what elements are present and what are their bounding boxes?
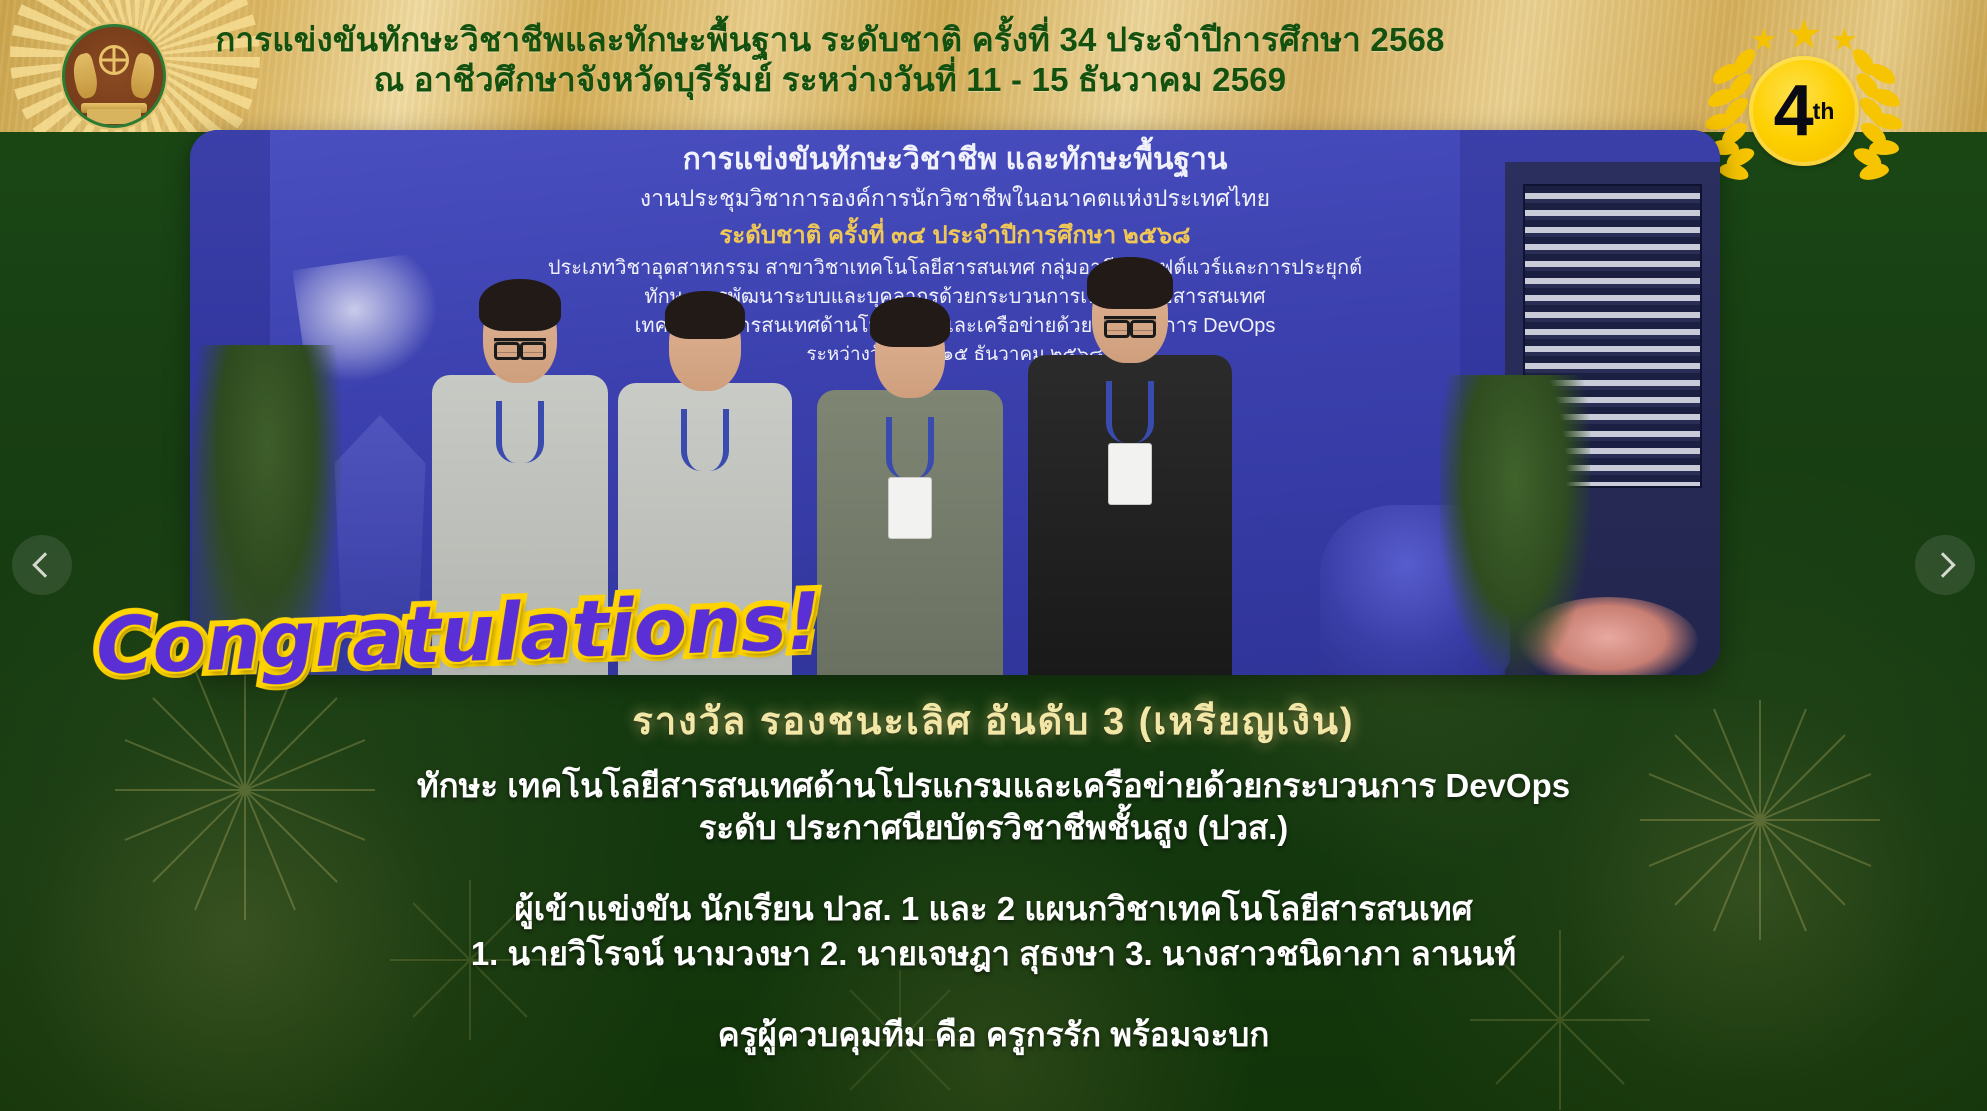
spacer — [0, 977, 1987, 1013]
event-banner: การแข่งขันทักษะวิชาชีพและทักษะพื้นฐาน ระ… — [0, 0, 1987, 132]
teacher-lanyard — [1106, 381, 1154, 443]
student-3-lanyard — [886, 417, 934, 479]
student-3-id-card — [888, 477, 932, 539]
teacher-hair — [1087, 257, 1173, 309]
student-3 — [810, 275, 1010, 675]
award-details: ทักษะ เทคโนโลยีสารสนเทศด้านโปรแกรมและเคร… — [0, 765, 1987, 1057]
teacher-person — [1020, 235, 1240, 675]
skill-name: ทักษะ เทคโนโลยีสารสนเทศด้านโปรแกรมและเคร… — [0, 765, 1987, 807]
emblem-naga-left — [69, 52, 101, 100]
medal-circle: 4th — [1749, 56, 1859, 166]
participants-names: 1. นายวิโรจน์ นามวงษา 2. นายเจษฎา สุธงษา… — [0, 932, 1987, 977]
banner-title-line-1: การแข่งขันทักษะวิชาชีพและทักษะพื้นฐาน ระ… — [180, 20, 1480, 60]
banner-text-block: การแข่งขันทักษะวิชาชีพและทักษะพื้นฐาน ระ… — [180, 20, 1480, 101]
banner-title-line-2: ณ อาชีวศึกษาจังหวัดบุรีรัมย์ ระหว่างวันท… — [180, 60, 1480, 100]
star-icon: ★ — [1786, 14, 1823, 55]
student-1-lanyard — [496, 401, 544, 463]
teacher-glasses — [1104, 316, 1156, 331]
chevron-right-icon — [1930, 552, 1955, 577]
education-level: ระดับ ประกาศนียบัตรวิชาชีพชั้นสูง (ปวส.) — [0, 807, 1987, 849]
chevron-left-icon — [32, 552, 57, 577]
award-title: รางวัล รองชนะเลิศ อันดับ 3 (เหรียญเงิน) — [0, 690, 1987, 751]
spacer — [0, 849, 1987, 887]
rank-badge: ★ ★ ★ 4th — [1699, 8, 1909, 188]
emblem-dharma-wheel-icon — [99, 45, 129, 75]
rank-suffix: th — [1813, 98, 1835, 125]
student-1-hair — [479, 279, 561, 331]
advising-teacher: ครูผู้ควบคุมทีม คือ ครูกรรัก พร้อมจะบก — [0, 1013, 1987, 1058]
carousel-next-button[interactable] — [1915, 535, 1975, 595]
student-2-hair — [665, 291, 745, 339]
emblem-plaque — [87, 109, 142, 124]
student-3-hair — [870, 297, 950, 347]
participants-label: ผู้เข้าแข่งขัน นักเรียน ปวส. 1 และ 2 แผน… — [0, 887, 1987, 932]
carousel-prev-button[interactable] — [12, 535, 72, 595]
emblem-naga-right — [127, 52, 159, 100]
vocational-education-emblem-icon — [62, 24, 166, 128]
teacher-id-card — [1108, 443, 1152, 505]
badge-stars: ★ ★ ★ — [1750, 14, 1858, 55]
plant-right — [1440, 375, 1590, 675]
rank-number: 4 — [1774, 75, 1812, 147]
student-1-glasses — [494, 338, 546, 353]
student-2-lanyard — [681, 409, 729, 471]
